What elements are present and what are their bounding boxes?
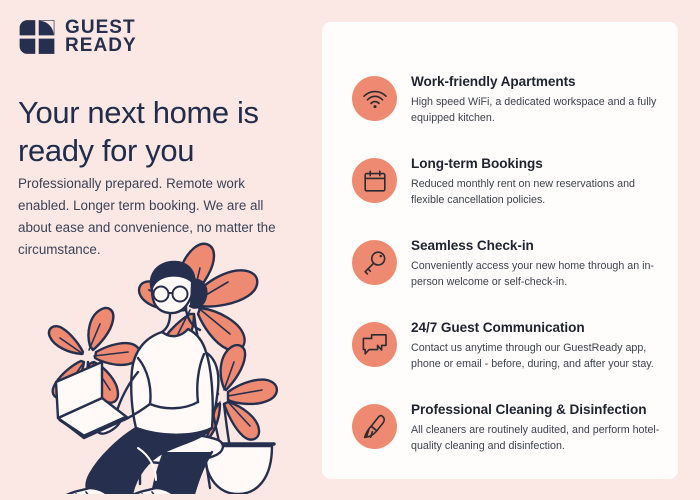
feature-description: Reduced monthly rent on new reservations…: [411, 177, 661, 208]
feature-item-long-term-bookings[interactable]: Long-term Bookings Reduced monthly rent …: [352, 156, 662, 208]
feature-description: All cleaners are routinely audited, and …: [411, 423, 661, 454]
calendar-icon: [352, 158, 397, 203]
feature-item-work-friendly-apartments[interactable]: Work-friendly Apartments High speed WiFi…: [352, 74, 662, 126]
feature-text: Professional Cleaning & Disinfection All…: [411, 402, 661, 454]
page-title: Your next home is ready for you: [18, 94, 310, 170]
promo-page: GUEST READY Your next home is ready for …: [0, 0, 700, 500]
feature-description: Contact us anytime through our GuestRead…: [411, 341, 661, 372]
feature-title: Long-term Bookings: [411, 156, 661, 173]
feature-title: 24/7 Guest Communication: [411, 320, 661, 337]
feature-title: Work-friendly Apartments: [411, 74, 661, 91]
feature-text: Long-term Bookings Reduced monthly rent …: [411, 156, 661, 208]
guestready-quad-squares-logo-icon: [18, 18, 56, 56]
logo-word-ready: READY: [65, 37, 137, 55]
feature-text: 24/7 Guest Communication Contact us anyt…: [411, 320, 661, 372]
feature-item-professional-cleaning[interactable]: Professional Cleaning & Disinfection All…: [352, 402, 662, 454]
features-card: Work-friendly Apartments High speed WiFi…: [322, 22, 678, 479]
feature-text: Seamless Check-in Conveniently access yo…: [411, 238, 661, 290]
feature-title: Seamless Check-in: [411, 238, 661, 255]
feature-description: Conveniently access your new home throug…: [411, 259, 661, 290]
feature-description: High speed WiFi, a dedicated workspace a…: [411, 95, 661, 126]
brand-logo[interactable]: GUEST READY: [18, 18, 137, 56]
left-column: GUEST READY Your next home is ready for …: [0, 0, 322, 500]
chat-bubbles-icon: [352, 322, 397, 367]
feature-item-seamless-check-in[interactable]: Seamless Check-in Conveniently access yo…: [352, 238, 662, 290]
feature-text: Work-friendly Apartments High speed WiFi…: [411, 74, 661, 126]
feature-title: Professional Cleaning & Disinfection: [411, 402, 661, 419]
wifi-icon: [352, 76, 397, 121]
hero-illustration: [28, 222, 316, 494]
feature-item-guest-communication[interactable]: 24/7 Guest Communication Contact us anyt…: [352, 320, 662, 372]
key-icon: [352, 240, 397, 285]
broom-icon: [352, 404, 397, 449]
